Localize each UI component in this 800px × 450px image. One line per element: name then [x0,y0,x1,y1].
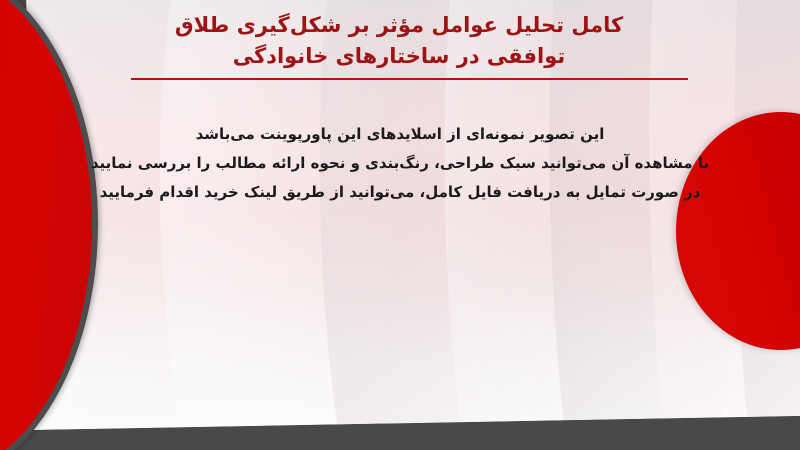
title-line-2: توافقی در ساختارهای خانوادگی [94,41,704,72]
presentation-slide: کامل تحلیل عوامل مؤثر بر شکل‌گیری طلاق ت… [0,0,800,450]
title-line-1: کامل تحلیل عوامل مؤثر بر شکل‌گیری طلاق [94,10,704,41]
slide-title: کامل تحلیل عوامل مؤثر بر شکل‌گیری طلاق ت… [94,10,704,72]
slide-body-text: این تصویر نمونه‌ای از اسلایدهای این پاور… [58,120,742,206]
body-line-2: با مشاهده آن می‌توانید سبک طراحی، رنگ‌بن… [58,149,742,178]
title-underline-rule [131,78,688,80]
body-line-3: در صورت تمایل به دریافت فایل کامل، می‌تو… [58,178,742,207]
slide-content: کامل تحلیل عوامل مؤثر بر شکل‌گیری طلاق ت… [0,0,800,450]
body-line-1: این تصویر نمونه‌ای از اسلایدهای این پاور… [58,120,742,149]
